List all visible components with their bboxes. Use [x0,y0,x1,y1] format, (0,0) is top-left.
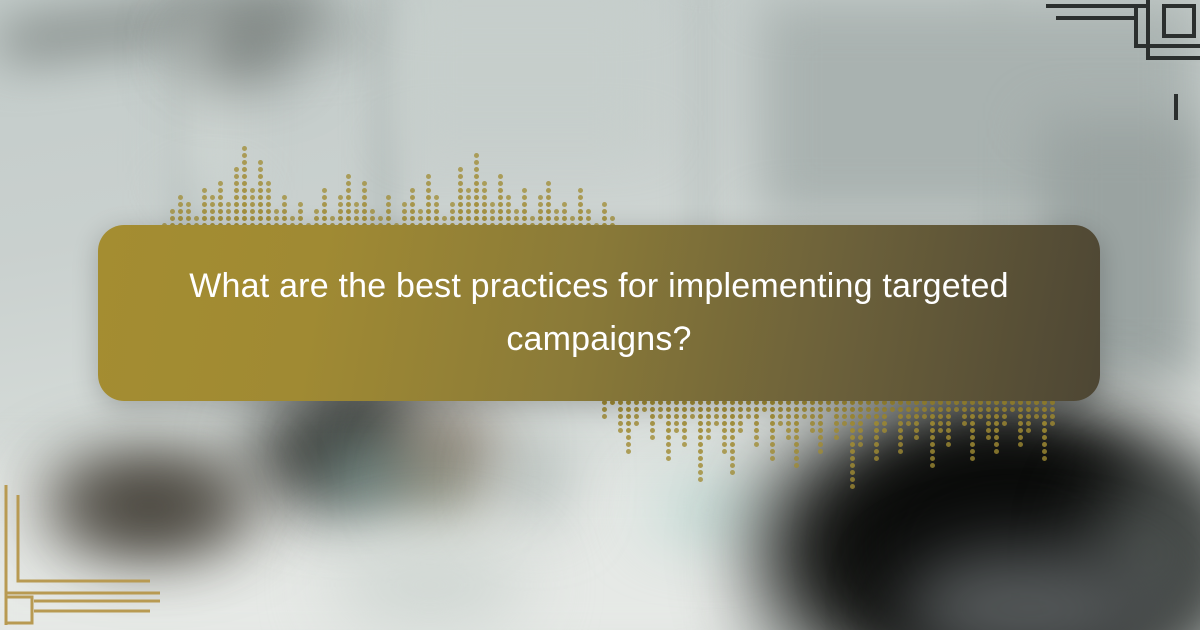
background-column [980,0,1010,240]
question-text: What are the best practices for implemen… [139,260,1059,365]
question-card: What are the best practices for implemen… [98,225,1100,401]
promo-banner: What are the best practices for implemen… [0,0,1200,630]
